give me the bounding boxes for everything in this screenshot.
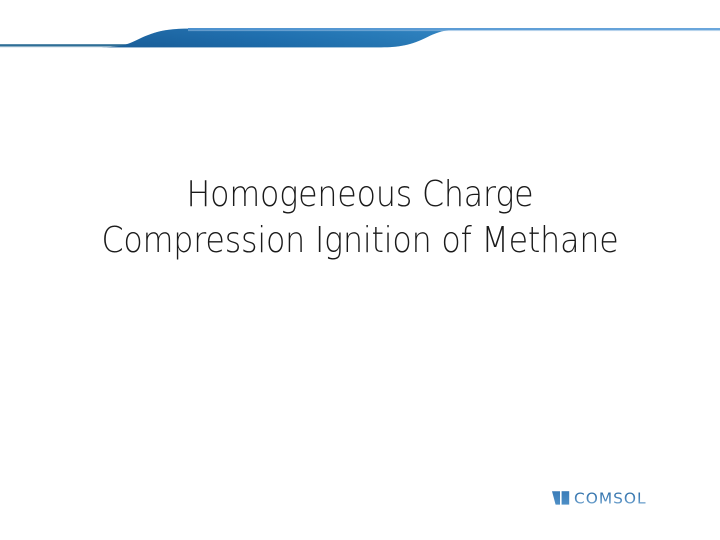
header-left-rule — [0, 44, 150, 47]
comsol-wedge-icon — [552, 491, 560, 504]
slide-canvas: Homogeneous Charge Compression Ignition … — [0, 0, 720, 540]
comsol-wordmark: COMSOL — [574, 490, 647, 508]
slide-title: Homogeneous Charge Compression Ignition … — [40, 172, 680, 264]
header-banner — [0, 0, 720, 60]
header-right-rule — [188, 28, 720, 31]
title-line-2: Compression Ignition of Methane — [78, 218, 641, 264]
title-line-1: Homogeneous Charge — [78, 172, 641, 218]
comsol-logo: COMSOL — [551, 487, 669, 509]
comsol-block-icon — [562, 491, 570, 504]
header-swoosh-shape — [96, 29, 470, 48]
